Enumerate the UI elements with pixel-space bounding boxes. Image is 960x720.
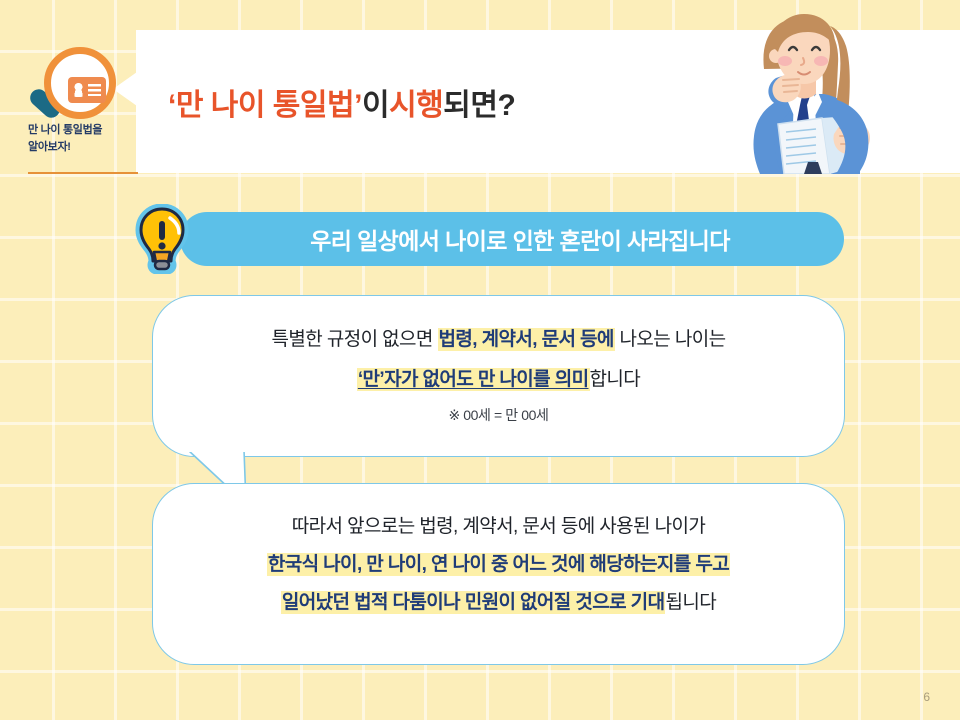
magnifier-ring-icon	[44, 47, 116, 119]
card1-line2-text-b: 합니다	[590, 369, 641, 390]
card1-note: ※ 00세 = 만 00세	[448, 408, 548, 422]
id-card-icon	[68, 77, 106, 103]
header-notch-arrow	[113, 72, 137, 106]
card1-line-1: 특별한 규정이 없으면 법령, 계약서, 문서 등에 나오는 나이는	[272, 330, 726, 349]
page-number: 6	[923, 690, 930, 704]
magnifier-idcard-icon	[44, 47, 116, 119]
lightbulb-exclamation-icon	[134, 204, 190, 274]
card2-line2-highlight: 한국식 나이, 만 나이, 연 나이 중 어느 것에 해당하는지를 두고	[267, 553, 730, 576]
card2-line3-text-b: 됩니다	[665, 592, 716, 613]
page-title-part3: 시행	[389, 80, 443, 124]
card1-line2-highlight: ‘만’자가 없어도 만 나이를 의미	[357, 368, 590, 391]
card1-line-2: ‘만’자가 없어도 만 나이를 의미합니다	[357, 370, 640, 389]
left-label-line2: 알아보자!	[28, 139, 138, 156]
card1-line1-text-b: 나오는 나이는	[615, 329, 726, 350]
page-title-part1: ‘만 나이 통일법’	[168, 80, 362, 124]
highlight-banner: 우리 일상에서 나이로 인한 혼란이 사라집니다	[180, 212, 844, 266]
page-title-part2: 이	[362, 80, 389, 124]
info-card-2: 따라서 앞으로는 법령, 계약서, 문서 등에 사용된 나이가 한국식 나이, …	[152, 483, 845, 665]
left-label-underline	[28, 172, 138, 174]
slide-background: 만 나이 통일법을 알아보자! ‘만 나이 통일법’이 시행되면?	[0, 0, 960, 720]
card1-line1-highlight: 법령, 계약서, 문서 등에	[438, 328, 615, 351]
page-title-part4: 되면?	[443, 80, 515, 124]
info-card-1-content: 특별한 규정이 없으면 법령, 계약서, 문서 등에 나오는 나이는 ‘만’자가…	[153, 296, 844, 456]
card2-line3-highlight: 일어났던 법적 다툼이나 민원이 없어질 것으로 기대	[281, 591, 666, 614]
page-title: ‘만 나이 통일법’이 시행되면?	[168, 72, 688, 132]
card2-line-2: 한국식 나이, 만 나이, 연 나이 중 어느 것에 해당하는지를 두고	[267, 555, 730, 574]
card2-line-3: 일어났던 법적 다툼이나 민원이 없어질 것으로 기대됩니다	[281, 593, 716, 612]
info-card-1: 특별한 규정이 없으면 법령, 계약서, 문서 등에 나오는 나이는 ‘만’자가…	[152, 295, 845, 457]
info-card-2-content: 따라서 앞으로는 법령, 계약서, 문서 등에 사용된 나이가 한국식 나이, …	[153, 484, 844, 664]
highlight-banner-text: 우리 일상에서 나이로 인한 혼란이 사라집니다	[294, 222, 730, 256]
card1-line1-text-a: 특별한 규정이 없으면	[272, 329, 438, 350]
card2-line-1: 따라서 앞으로는 법령, 계약서, 문서 등에 사용된 나이가	[292, 517, 705, 536]
left-label: 만 나이 통일법을 알아보자!	[28, 122, 138, 155]
left-label-line1: 만 나이 통일법을	[28, 122, 138, 139]
woman-thinking-illustration	[690, 6, 940, 174]
